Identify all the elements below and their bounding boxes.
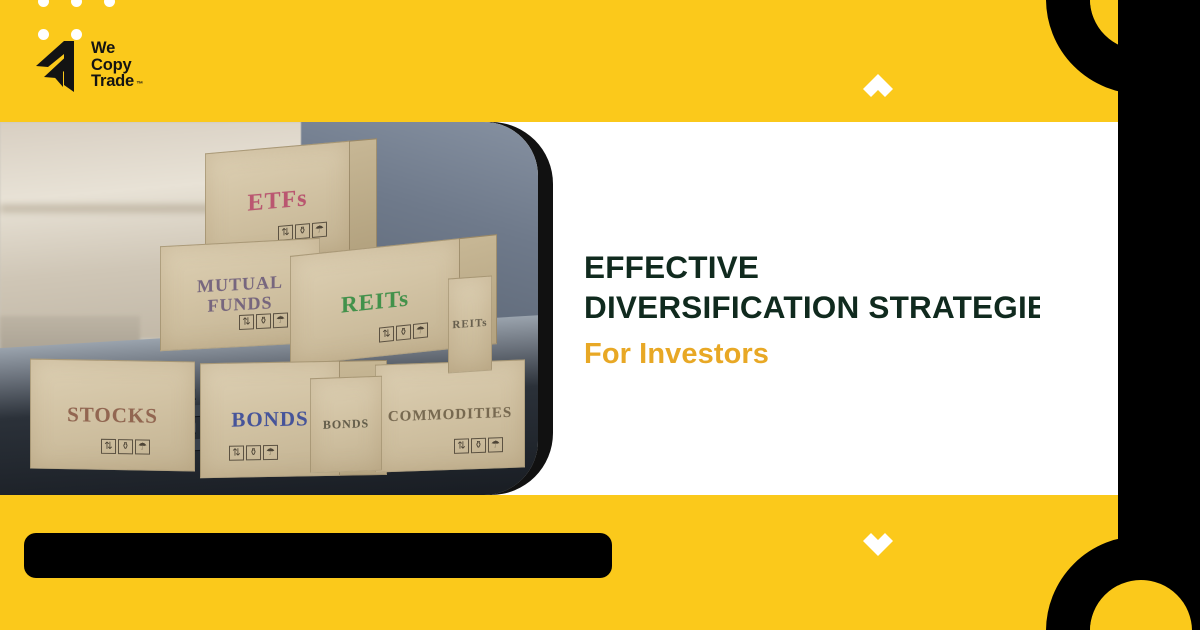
box-label: REITs [452,317,487,331]
cardboard-box: BONDS [310,376,382,474]
handling-mark: ⚱ [246,445,261,460]
box-front: COMMODITIES⇅⚱☂ [375,359,525,472]
box-front: REITs⇅⚱☂ [290,238,460,366]
handling-marks: ⇅⚱☂ [379,322,428,342]
chevron-arrow-logo-icon [30,36,82,94]
handling-mark: ⇅ [239,314,254,330]
diamond-ornament-down-icon [861,524,895,558]
box-label: MUTUALFUNDS [197,273,283,316]
box-label: BONDS [231,408,308,432]
box-front: BONDS [310,376,382,474]
box-label: ETFs [247,187,307,218]
handling-mark: ☂ [312,222,327,238]
handling-mark: ⚱ [471,438,486,454]
handling-mark: ☂ [135,439,150,454]
handling-mark: ⚱ [396,324,411,341]
handling-marks: ⇅⚱☂ [229,445,278,461]
hero-image-frame: ETFs⇅⚱☂MUTUALFUNDS⇅⚱☂REITs⇅⚱☂STOCKS⇅⚱☂BO… [0,122,553,495]
box-label: COMMODITIES [388,406,512,426]
hero-image: ETFs⇅⚱☂MUTUALFUNDS⇅⚱☂REITs⇅⚱☂STOCKS⇅⚱☂BO… [0,122,538,495]
brand-line-2: Copy [91,57,134,74]
dot [104,0,115,7]
cardboard-box: REITs⇅⚱☂ [290,238,460,366]
photo-scene: ETFs⇅⚱☂MUTUALFUNDS⇅⚱☂REITs⇅⚱☂STOCKS⇅⚱☂BO… [0,122,538,495]
cardboard-box: REITs [448,275,492,373]
handling-marks: ⇅⚱☂ [454,437,503,454]
handling-mark: ☂ [413,322,428,339]
box-front: STOCKS⇅⚱☂ [30,359,195,472]
cardboard-box: STOCKS⇅⚱☂ [30,359,195,472]
brand-wordmark: We Copy Trade ™ [91,40,134,90]
handling-mark: ⚱ [118,439,133,454]
brand-line-3: Trade [91,73,134,90]
handling-mark: ⇅ [229,445,244,460]
handling-mark: ⇅ [379,326,394,343]
handling-mark: ⚱ [295,223,310,239]
handling-mark: ⇅ [454,438,469,454]
brand-logo[interactable]: We Copy Trade ™ [30,36,134,94]
dot [38,0,49,7]
handling-mark: ☂ [273,312,288,328]
banner-canvas: We Copy Trade ™ ETFs⇅⚱☂MUTUALFUNDS⇅⚱☂REI… [0,0,1200,630]
box-side [349,138,377,250]
box-label: BONDS [323,417,369,431]
handling-mark: ⚱ [256,313,271,329]
box-front: REITs [448,275,492,373]
handling-mark: ☂ [488,437,503,453]
brand-line-1: We [91,40,134,57]
handling-mark: ☂ [263,445,278,460]
headline-line-1: EFFECTIVE [584,249,759,285]
diamond-ornament-up-icon [861,72,895,106]
footer-bar [24,533,612,578]
handling-marks: ⇅⚱☂ [101,439,150,455]
box-label: REITs [341,286,409,318]
box-label: STOCKS [67,403,158,427]
handling-marks: ⇅⚱☂ [239,312,288,330]
panel-extension [1040,122,1118,495]
dot [71,0,82,7]
trademark-symbol: ™ [136,81,143,88]
cardboard-box: COMMODITIES⇅⚱☂ [375,359,525,472]
handling-mark: ⇅ [101,439,116,454]
right-decoration-column [1040,0,1200,630]
